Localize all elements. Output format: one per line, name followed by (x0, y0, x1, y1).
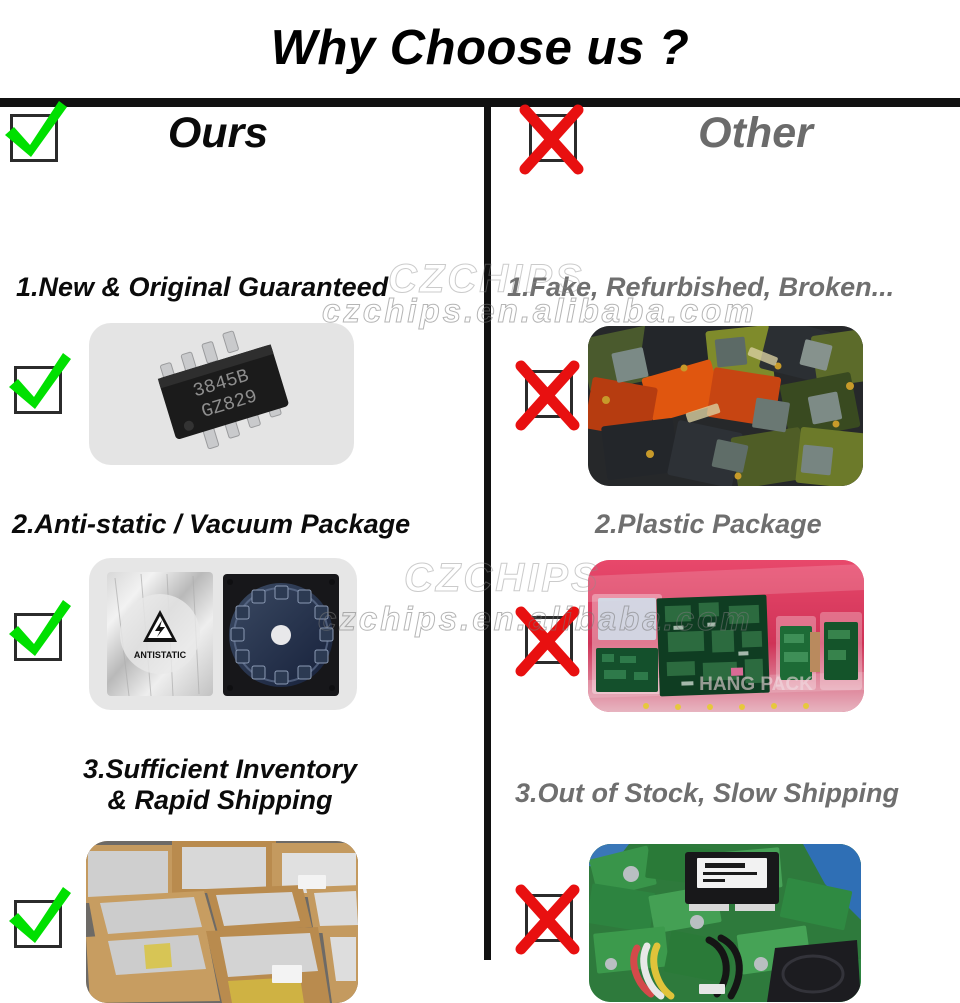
column-header-ours: Ours (0, 104, 484, 176)
cross-mark-icon (525, 370, 573, 418)
photo-original-chip: 3845B GZ829 (89, 323, 354, 465)
row-label-ours-2: 2.Anti-static / Vacuum Package (12, 509, 482, 540)
photo-inventory-boxes (86, 841, 358, 1003)
column-divider (484, 104, 491, 960)
plastic-package-overlay-text: HANG PACK (699, 674, 813, 695)
check-mark-icon (14, 366, 62, 414)
why-choose-us-infographic: Why Choose us ? Ours 1.New & Original Gu… (0, 0, 960, 960)
antistatic-bag-label: ANTISTATIC (134, 650, 187, 660)
row-label-other-1: 1.Fake, Refurbished, Broken... (507, 272, 957, 303)
column-ours: Ours 1.New & Original Guaranteed (0, 104, 484, 960)
photo-out-of-stock-scrap (589, 844, 861, 1002)
row-label-other-2: 2.Plastic Package (595, 509, 960, 540)
row-label-other-3: 3.Out of Stock, Slow Shipping (515, 778, 960, 809)
column-label-other: Other (521, 112, 960, 155)
check-mark-icon (14, 900, 62, 948)
cross-mark-icon (525, 616, 573, 664)
row-label-ours-1: 1.New & Original Guaranteed (16, 272, 476, 303)
column-other: Other 1.Fake, Refurbished, Broken... (491, 104, 960, 960)
cross-mark-icon (525, 894, 573, 942)
photo-fake-broken-chips (588, 326, 863, 486)
page-title: Why Choose us ? (0, 22, 960, 76)
column-header-other: Other (491, 104, 960, 176)
row-label-ours-3: 3.Sufficient Inventory & Rapid Shipping (0, 754, 440, 816)
photo-antistatic-package: ANTISTATIC (89, 558, 357, 710)
check-mark-icon (14, 613, 62, 661)
photo-plastic-package: HANG PACK (588, 560, 864, 712)
column-label-ours: Ours (0, 112, 460, 155)
